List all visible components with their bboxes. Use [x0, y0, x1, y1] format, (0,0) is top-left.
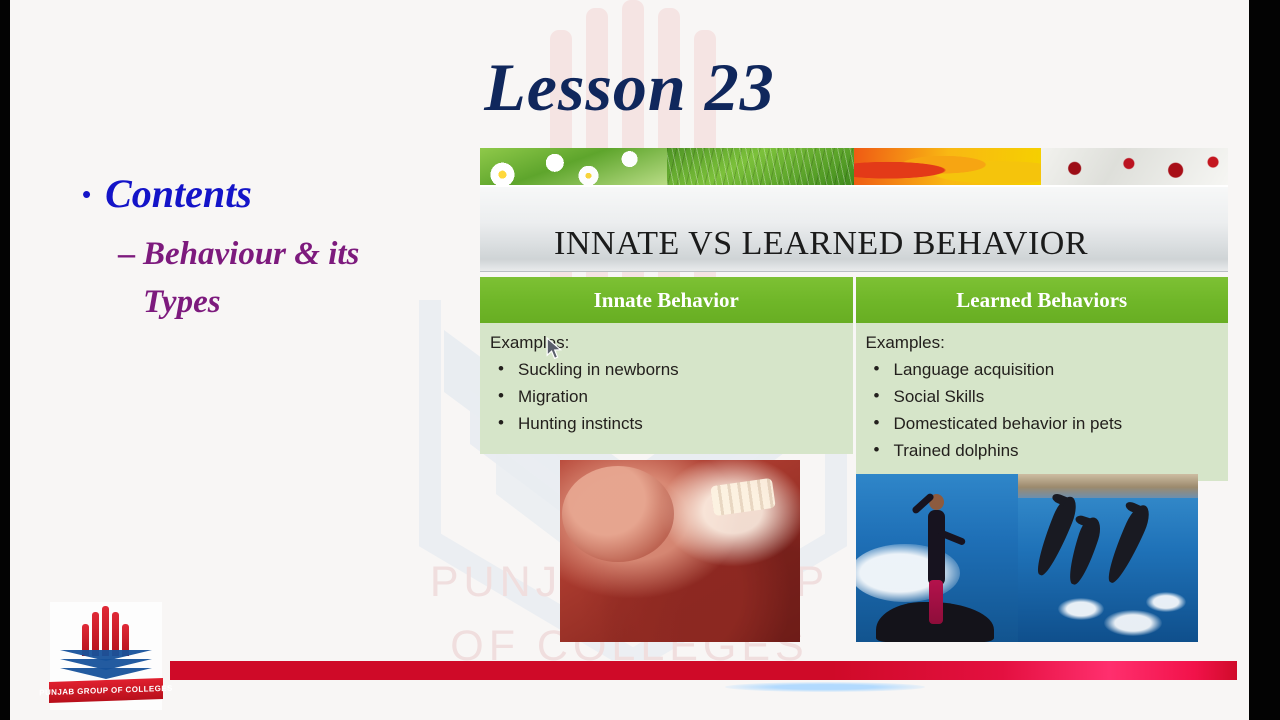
column-header-learned: Learned Behaviors — [856, 277, 1229, 323]
leaping-dolphin-shape — [1102, 502, 1154, 587]
footer-bar-glow — [725, 682, 925, 692]
outline-level1: • Contents — [82, 168, 482, 220]
examples-list-learned: Language acquisition Social Skills Domes… — [864, 356, 1217, 464]
trainer-figure — [914, 488, 958, 616]
water-splash-shape — [1058, 598, 1104, 620]
page-title-text: Lesson 23 — [484, 49, 774, 125]
column-header-innate-label: Innate Behavior — [594, 288, 739, 313]
outline-list: • Contents – Behaviour & its Types — [82, 168, 482, 326]
poolside-rocks-shape — [1018, 474, 1198, 498]
examples-list-innate: Suckling in newborns Migration Hunting i… — [488, 356, 841, 437]
list-item: Domesticated behavior in pets — [864, 410, 1217, 437]
baby-head-shape — [562, 466, 674, 562]
presentation-slide: PUNJAB GROUP OF COLLEGES Lesson 23 • Con… — [10, 0, 1249, 720]
table-column-learned: Learned Behaviors Examples: Language acq… — [856, 277, 1229, 481]
strip-segment-spring — [480, 148, 667, 185]
water-splash-shape — [1146, 592, 1186, 612]
outline-level2-label: Behaviour & its Types — [143, 230, 443, 326]
column-header-innate: Innate Behavior — [480, 277, 853, 323]
table-column-innate: Innate Behavior Examples: Suckling in ne… — [480, 277, 853, 481]
card-banner-title: INNATE VS LEARNED BEHAVIOR — [480, 225, 1088, 271]
column-header-learned-label: Learned Behaviors — [956, 288, 1127, 313]
card-banner: INNATE VS LEARNED BEHAVIOR — [480, 185, 1228, 272]
content-card: INNATE VS LEARNED BEHAVIOR Innate Behavi… — [480, 148, 1228, 646]
letterbox-left — [0, 0, 10, 720]
strip-segment-summer — [667, 148, 854, 185]
strip-segment-winter — [1041, 148, 1228, 185]
footer-bar-red — [170, 661, 1237, 680]
comparison-table: Innate Behavior Examples: Suckling in ne… — [480, 277, 1228, 481]
list-item: Language acquisition — [864, 356, 1217, 383]
trainer-legs-shape — [929, 580, 943, 624]
footer-bar-navy — [170, 680, 1237, 709]
screen: PUNJAB GROUP OF COLLEGES Lesson 23 • Con… — [0, 0, 1280, 720]
outline-level1-label: Contents — [105, 168, 252, 220]
water-splash-shape — [1104, 610, 1162, 636]
dolphin-photo-left — [856, 474, 1018, 642]
column-body-learned: Examples: Language acquisition Social Sk… — [856, 323, 1229, 481]
bullet-dash-icon: – — [118, 230, 135, 278]
list-item: Suckling in newborns — [488, 356, 841, 383]
outline-level2: – Behaviour & its Types — [82, 230, 482, 326]
examples-label-learned: Examples: — [864, 333, 1217, 353]
page-title: Lesson 23 — [10, 48, 1249, 127]
bullet-dot-icon: • — [82, 168, 91, 220]
newborn-baby-photo — [560, 460, 800, 642]
trained-dolphins-photo — [856, 474, 1198, 642]
seasonal-photo-strip — [480, 148, 1228, 185]
strip-segment-autumn — [854, 148, 1041, 185]
logo-ribbon: PUNJAB GROUP OF COLLEGES — [49, 678, 163, 703]
list-item: Hunting instincts — [488, 410, 841, 437]
dolphin-photo-right — [1018, 474, 1198, 642]
examples-label-innate: Examples: — [488, 333, 841, 353]
list-item: Social Skills — [864, 383, 1217, 410]
letterbox-right — [1249, 0, 1280, 720]
logo-pillars-icon — [80, 606, 132, 656]
baby-hand-shape — [710, 478, 776, 516]
pgc-logo: PUNJAB GROUP OF COLLEGES — [50, 602, 162, 710]
list-item: Migration — [488, 383, 841, 410]
trainer-body-shape — [928, 510, 945, 586]
column-body-innate: Examples: Suckling in newborns Migration… — [480, 323, 853, 454]
list-item: Trained dolphins — [864, 437, 1217, 464]
logo-ribbon-text: PUNJAB GROUP OF COLLEGES — [39, 684, 172, 698]
